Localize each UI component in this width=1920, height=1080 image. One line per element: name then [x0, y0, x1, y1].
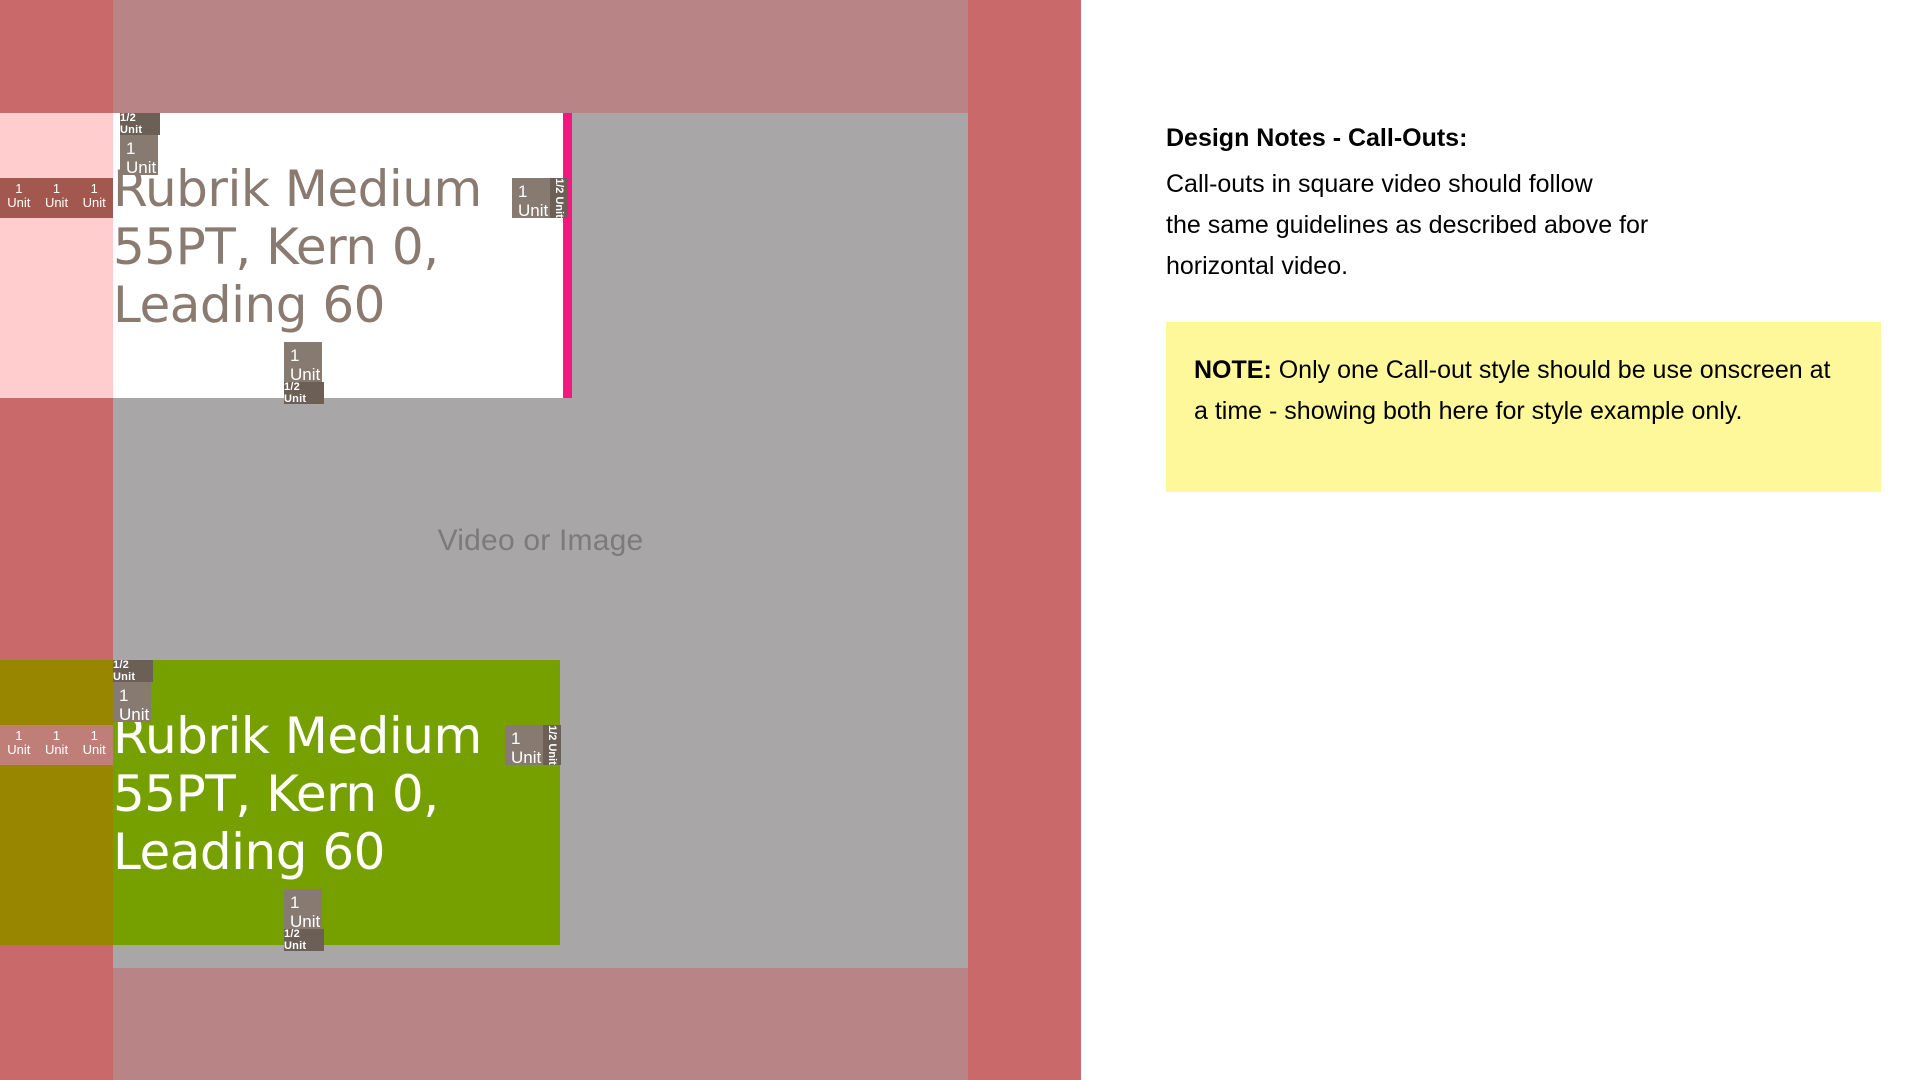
slide-root: Video or Image Rubrik Medium 55PT, Kern … — [0, 0, 1920, 1080]
gutter-strip-olive — [0, 660, 113, 945]
ruler-cell: 1 Unit — [38, 178, 76, 218]
ruler-cell: 1 Unit — [0, 725, 38, 765]
ruler-cell: 1 Unit — [75, 725, 113, 765]
design-notes-panel: Design Notes - Call-Outs: Call-outs in s… — [1166, 0, 1906, 1080]
chip-white-bottom-one-unit: 1 Unit — [284, 342, 322, 382]
design-notes-body: Call-outs in square video should follow … — [1166, 164, 1846, 287]
gutter-strip-pink — [0, 113, 113, 398]
ruler-green-callout: 1 Unit 1 Unit 1 Unit — [0, 725, 113, 765]
chip-white-top-half-unit: 1/2 Unit — [120, 113, 160, 135]
chip-white-right-half-unit: 1/2 Unit — [550, 178, 568, 218]
chip-white-right-half-unit-label: 1/2 Unit — [553, 178, 565, 218]
square-video-canvas: Video or Image Rubrik Medium 55PT, Kern … — [0, 0, 1081, 1080]
chip-green-right-half-unit-label: 1/2 Unit — [546, 725, 558, 765]
ruler-cell: 1 Unit — [0, 178, 38, 218]
callout-white-accent-bar — [563, 113, 572, 398]
chip-green-right-half-unit: 1/2 Unit — [543, 725, 561, 765]
chip-white-top-one-unit: 1 Unit — [120, 135, 158, 175]
chip-green-right-one-unit: 1 Unit — [505, 725, 543, 765]
design-notes-title: Design Notes - Call-Outs: — [1166, 124, 1467, 153]
video-or-image-label: Video or Image — [113, 524, 968, 558]
chip-green-top-half-unit: 1/2 Unit — [113, 660, 153, 682]
chip-white-right-one-unit: 1 Unit — [512, 178, 550, 218]
callout-white-text: Rubrik Medium 55PT, Kern 0, Leading 60 — [113, 160, 533, 334]
chip-white-bottom-half-unit: 1/2 Unit — [284, 382, 324, 404]
note-callout-box: NOTE: Only one Call-out style should be … — [1166, 322, 1881, 492]
chip-green-bottom-one-unit: 1 Unit — [284, 889, 322, 929]
note-label: NOTE: — [1194, 356, 1272, 384]
ruler-cell: 1 Unit — [38, 725, 76, 765]
ruler-cell: 1 Unit — [75, 178, 113, 218]
chip-green-top-one-unit: 1 Unit — [113, 682, 151, 722]
ruler-white-callout: 1 Unit 1 Unit 1 Unit — [0, 178, 113, 218]
note-text: Only one Call-out style should be use on… — [1194, 356, 1830, 425]
chip-green-bottom-half-unit: 1/2 Unit — [284, 929, 324, 951]
callout-green-text: Rubrik Medium 55PT, Kern 0, Leading 60 — [113, 707, 543, 881]
note-callout-text: NOTE: Only one Call-out style should be … — [1194, 350, 1844, 432]
